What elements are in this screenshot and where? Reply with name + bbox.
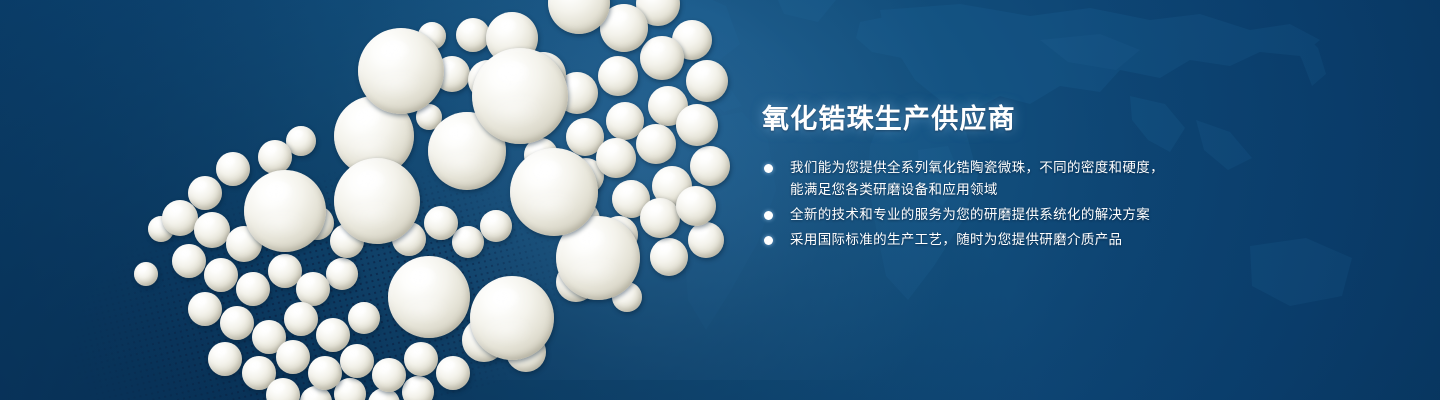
hero-banner: 氧化锆珠生产供应商 我们能为您提供全系列氧化锆陶瓷微珠，不同的密度和硬度， 能满…	[0, 0, 1440, 400]
list-item: 采用国际标准的生产工艺，随时为您提供研磨介质产品	[762, 229, 1212, 251]
bullet-dot-icon	[764, 164, 773, 173]
bullet-text-line-1: 全新的技术和专业的服务为您的研磨提供系统化的解决方案	[790, 207, 1150, 222]
bullet-text-line-1: 我们能为您提供全系列氧化锆陶瓷微珠，不同的密度和硬度，	[790, 160, 1164, 175]
bullet-dot-icon	[764, 236, 773, 245]
banner-copy-block: 氧化锆珠生产供应商 我们能为您提供全系列氧化锆陶瓷微珠，不同的密度和硬度， 能满…	[762, 104, 1212, 254]
list-item: 我们能为您提供全系列氧化锆陶瓷微珠，不同的密度和硬度， 能满足您各类研磨设备和应…	[762, 157, 1212, 201]
bullet-text-line-2: 能满足您各类研磨设备和应用领域	[790, 179, 1212, 201]
vignette-overlay	[0, 0, 1440, 400]
banner-headline: 氧化锆珠生产供应商	[762, 104, 1212, 135]
banner-feature-list: 我们能为您提供全系列氧化锆陶瓷微珠，不同的密度和硬度， 能满足您各类研磨设备和应…	[762, 157, 1212, 251]
bullet-dot-icon	[764, 211, 773, 220]
bullet-text-line-1: 采用国际标准的生产工艺，随时为您提供研磨介质产品	[790, 232, 1122, 247]
list-item: 全新的技术和专业的服务为您的研磨提供系统化的解决方案	[762, 204, 1212, 226]
